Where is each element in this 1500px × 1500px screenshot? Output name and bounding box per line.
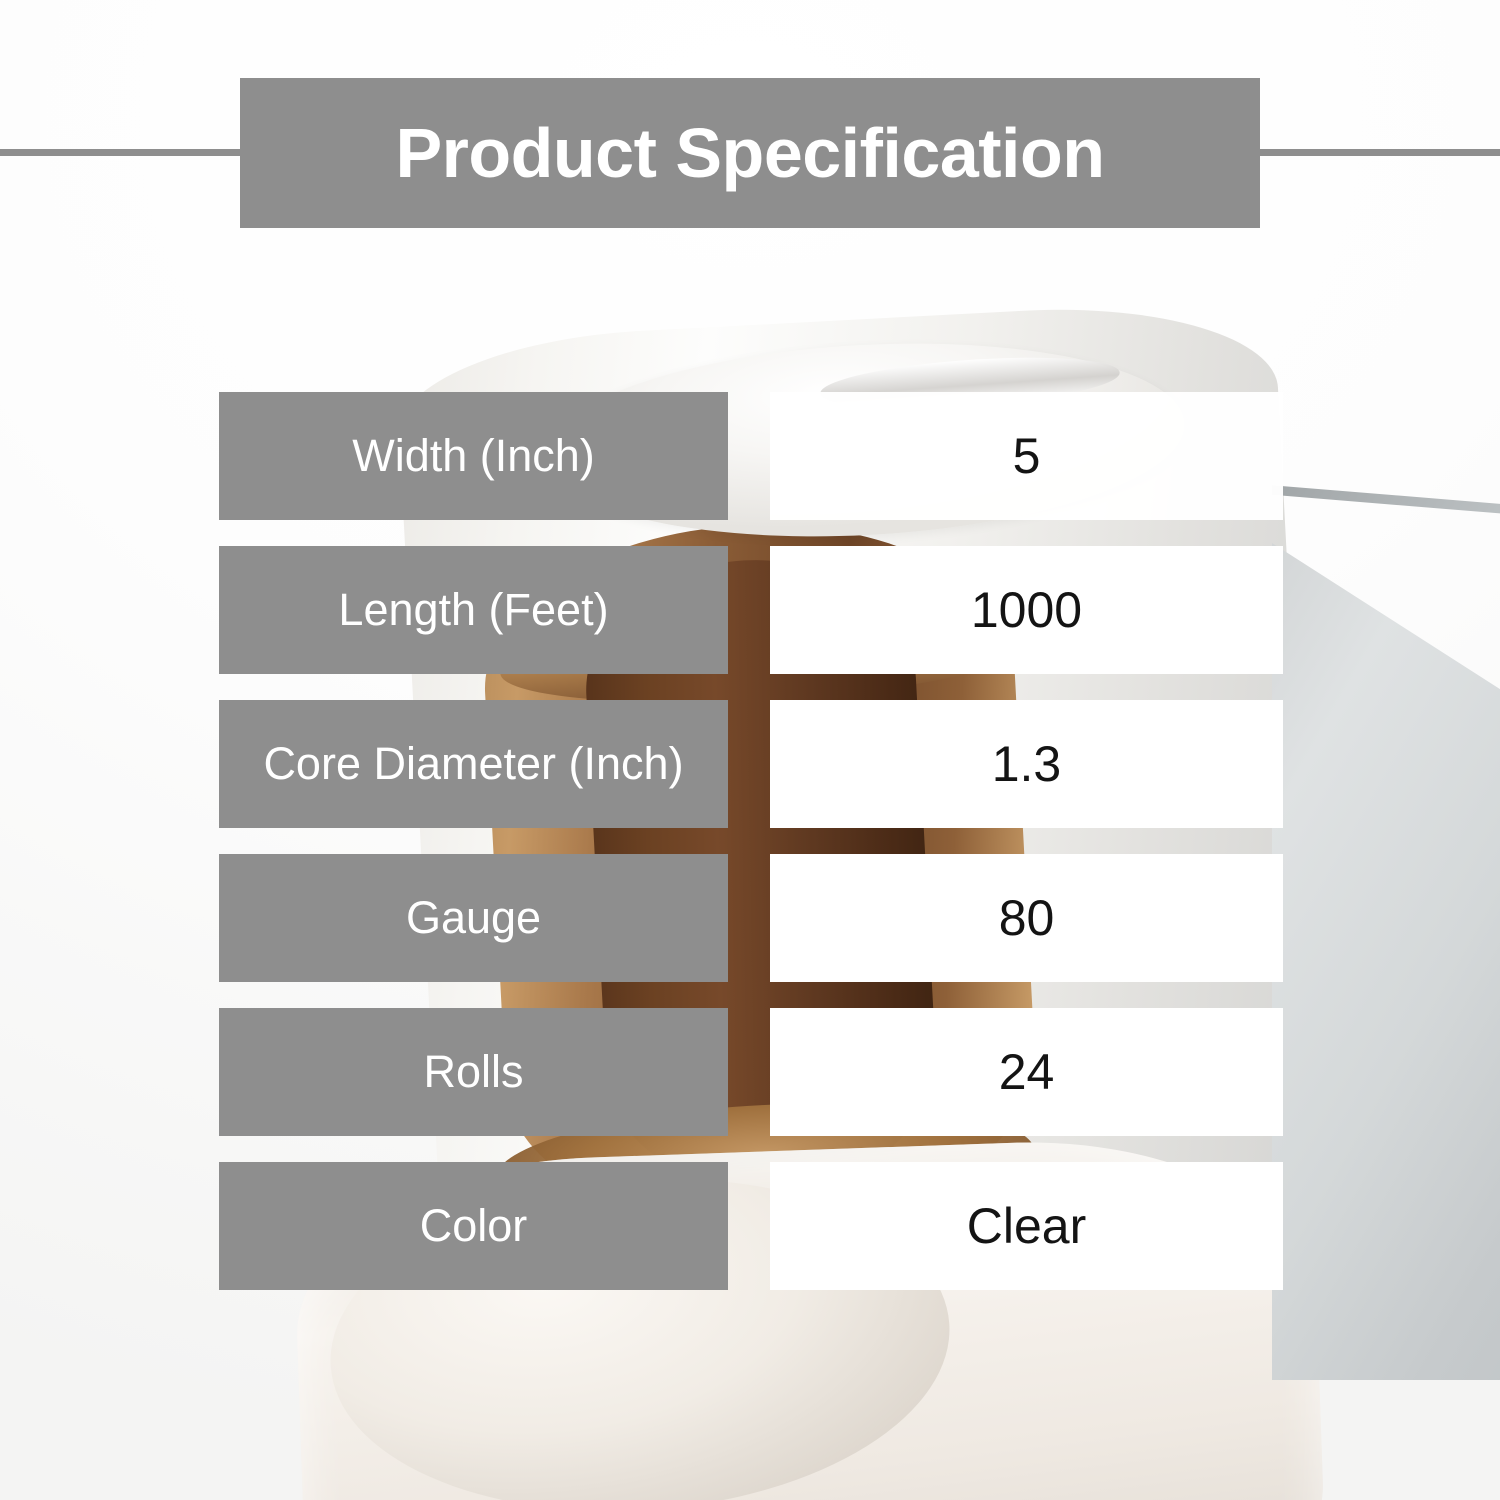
spec-row-gap xyxy=(728,700,770,828)
table-row: Length (Feet) 1000 xyxy=(219,546,1283,674)
spec-value-length: 1000 xyxy=(770,546,1283,674)
spec-label-gauge: Gauge xyxy=(219,854,728,982)
header-rule-right xyxy=(1252,149,1500,156)
table-row: Rolls 24 xyxy=(219,1008,1283,1136)
specification-table: Width (Inch) 5 Length (Feet) 1000 Core D… xyxy=(219,392,1283,1290)
spec-row-gap xyxy=(728,1008,770,1136)
table-row: Gauge 80 xyxy=(219,854,1283,982)
spec-label-core-diameter: Core Diameter (Inch) xyxy=(219,700,728,828)
spec-value-width: 5 xyxy=(770,392,1283,520)
header-rule-left xyxy=(0,149,248,156)
spec-row-gap xyxy=(728,1162,770,1290)
title-banner: Product Specification xyxy=(240,78,1260,228)
spec-value-color: Clear xyxy=(770,1162,1283,1290)
table-row: Core Diameter (Inch) 1.3 xyxy=(219,700,1283,828)
spec-row-gap xyxy=(728,546,770,674)
spec-row-gap xyxy=(728,392,770,520)
product-specification-infographic: Product Specification Width (Inch) 5 Len… xyxy=(0,0,1500,1500)
spec-label-width: Width (Inch) xyxy=(219,392,728,520)
spec-row-gap xyxy=(728,854,770,982)
spec-label-length: Length (Feet) xyxy=(219,546,728,674)
spec-label-color: Color xyxy=(219,1162,728,1290)
spec-value-gauge: 80 xyxy=(770,854,1283,982)
spec-value-rolls: 24 xyxy=(770,1008,1283,1136)
spec-label-rolls: Rolls xyxy=(219,1008,728,1136)
spec-value-core-diameter: 1.3 xyxy=(770,700,1283,828)
page-title: Product Specification xyxy=(395,118,1104,188)
table-row: Width (Inch) 5 xyxy=(219,392,1283,520)
table-row: Color Clear xyxy=(219,1162,1283,1290)
